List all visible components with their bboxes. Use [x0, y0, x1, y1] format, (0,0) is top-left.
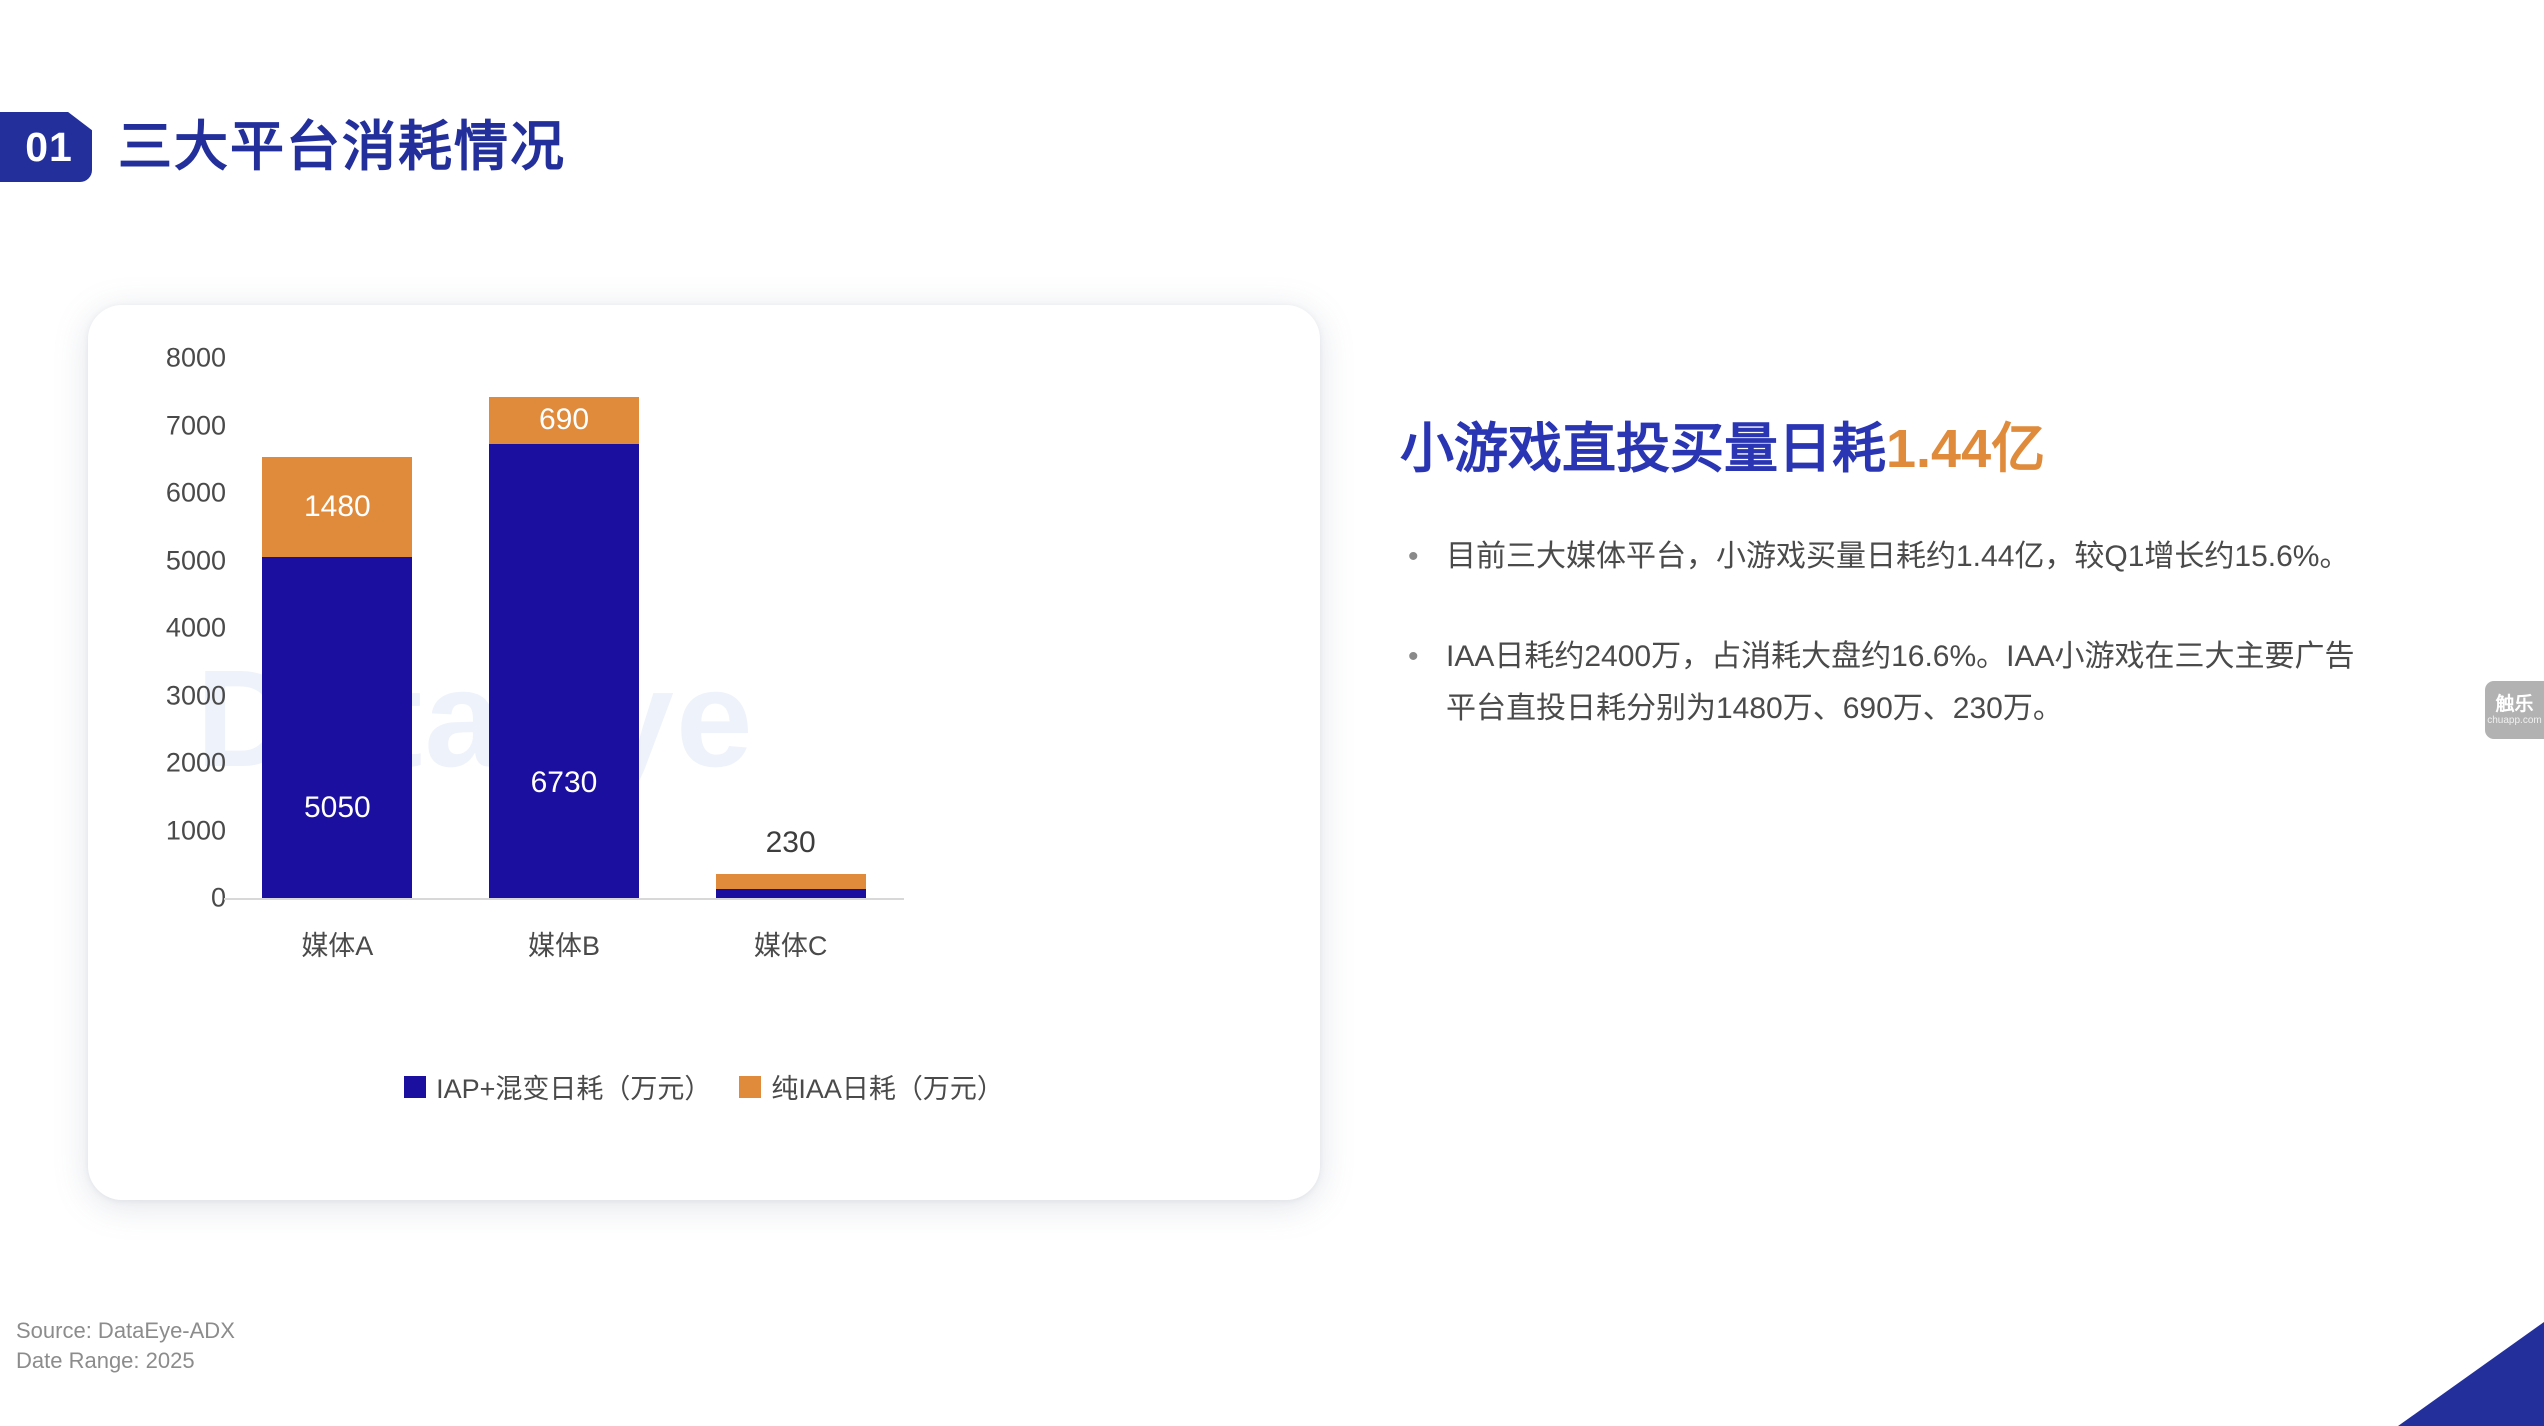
bullet-item: •目前三大媒体平台，小游戏买量日耗约1.44亿，较Q1增长约15.6%。 [1400, 531, 2430, 583]
corner-decoration [2398, 1322, 2544, 1426]
bar-value-label: 690 [539, 405, 589, 435]
legend-item[interactable]: 纯IAA日耗（万元） [739, 1067, 1004, 1106]
y-axis-tick: 8000 [106, 343, 226, 374]
bullet-item: •IAA日耗约2400万，占消耗大盘约16.6%。IAA小游戏在三大主要广告平台… [1400, 631, 2430, 734]
footer-source: Source: DataEye-ADX Date Range: 2025 [16, 1316, 235, 1375]
insight-panel: 小游戏直投买量日耗1.44亿 •目前三大媒体平台，小游戏买量日耗约1.44亿，较… [1400, 420, 2430, 782]
legend-label: 纯IAA日耗（万元） [771, 1067, 1004, 1106]
y-axis-tick: 2000 [106, 748, 226, 779]
footer-source-line: Source: DataEye-ADX [16, 1316, 235, 1346]
bar-group[interactable]: 230 [716, 305, 866, 898]
insight-heading-main: 小游戏直投买量日耗 [1400, 419, 1886, 479]
legend-label: IAP+混变日耗（万元） [436, 1067, 711, 1106]
bar-group[interactable]: 6906730 [489, 305, 639, 898]
site-domain-label: chuapp.com [2487, 716, 2541, 726]
y-axis-tick: 7000 [106, 410, 226, 441]
y-axis-tick: 0 [106, 883, 226, 914]
bar-stack: 14805050 [262, 457, 412, 898]
x-axis-line [224, 898, 904, 900]
bar-segment[interactable] [716, 874, 866, 890]
site-logo: 触乐 [2495, 695, 2533, 714]
insight-heading-figure: 1.44亿 [1886, 419, 2045, 479]
y-axis-tick: 4000 [106, 613, 226, 644]
bullet-text: IAA日耗约2400万，占消耗大盘约16.6%。IAA小游戏在三大主要广告平台直… [1446, 631, 2376, 734]
x-axis-label: 媒体C [686, 924, 896, 963]
site-watermark-tab[interactable]: 触乐 chuapp.com [2485, 681, 2544, 739]
bullet-list: •目前三大媒体平台，小游戏买量日耗约1.44亿，较Q1增长约15.6%。•IAA… [1400, 531, 2430, 734]
bar-segment[interactable] [716, 889, 866, 898]
section-number-badge: 01 [0, 112, 92, 182]
y-axis-tick: 5000 [106, 545, 226, 576]
bar-segment[interactable]: 1480 [262, 457, 412, 557]
x-axis-label: 媒体B [459, 924, 669, 963]
legend-swatch [739, 1076, 761, 1098]
bullet-marker-icon: • [1400, 531, 1446, 583]
bar-value-label: 230 [716, 826, 866, 860]
chart-legend: IAP+混变日耗（万元）纯IAA日耗（万元） [88, 1067, 1320, 1106]
bar-segment[interactable]: 690 [489, 397, 639, 444]
x-axis-label: 媒体A [232, 924, 442, 963]
page-title: 三大平台消耗情况 [118, 120, 566, 174]
bar-value-label: 6730 [531, 768, 598, 798]
bar-value-label: 5050 [304, 793, 371, 823]
bar-segment[interactable]: 5050 [262, 557, 412, 898]
legend-item[interactable]: IAP+混变日耗（万元） [404, 1067, 711, 1106]
bar-value-label: 1480 [304, 492, 371, 522]
footer-date-range-line: Date Range: 2025 [16, 1346, 235, 1376]
bar-group[interactable]: 14805050 [262, 305, 412, 898]
bar-stack [716, 874, 866, 898]
bullet-text: 目前三大媒体平台，小游戏买量日耗约1.44亿，较Q1增长约15.6%。 [1446, 531, 2349, 583]
bar-segment[interactable]: 6730 [489, 444, 639, 898]
insight-heading: 小游戏直投买量日耗1.44亿 [1400, 420, 2430, 479]
bar-chart: 800070006000500040003000200010000 148050… [88, 305, 1320, 1200]
y-axis-tick: 3000 [106, 680, 226, 711]
legend-swatch [404, 1076, 426, 1098]
bullet-marker-icon: • [1400, 631, 1446, 683]
y-axis-tick: 6000 [106, 478, 226, 509]
slide-header: 01 三大平台消耗情况 [0, 112, 566, 182]
bar-stack: 6906730 [489, 397, 639, 898]
y-axis-tick: 1000 [106, 815, 226, 846]
